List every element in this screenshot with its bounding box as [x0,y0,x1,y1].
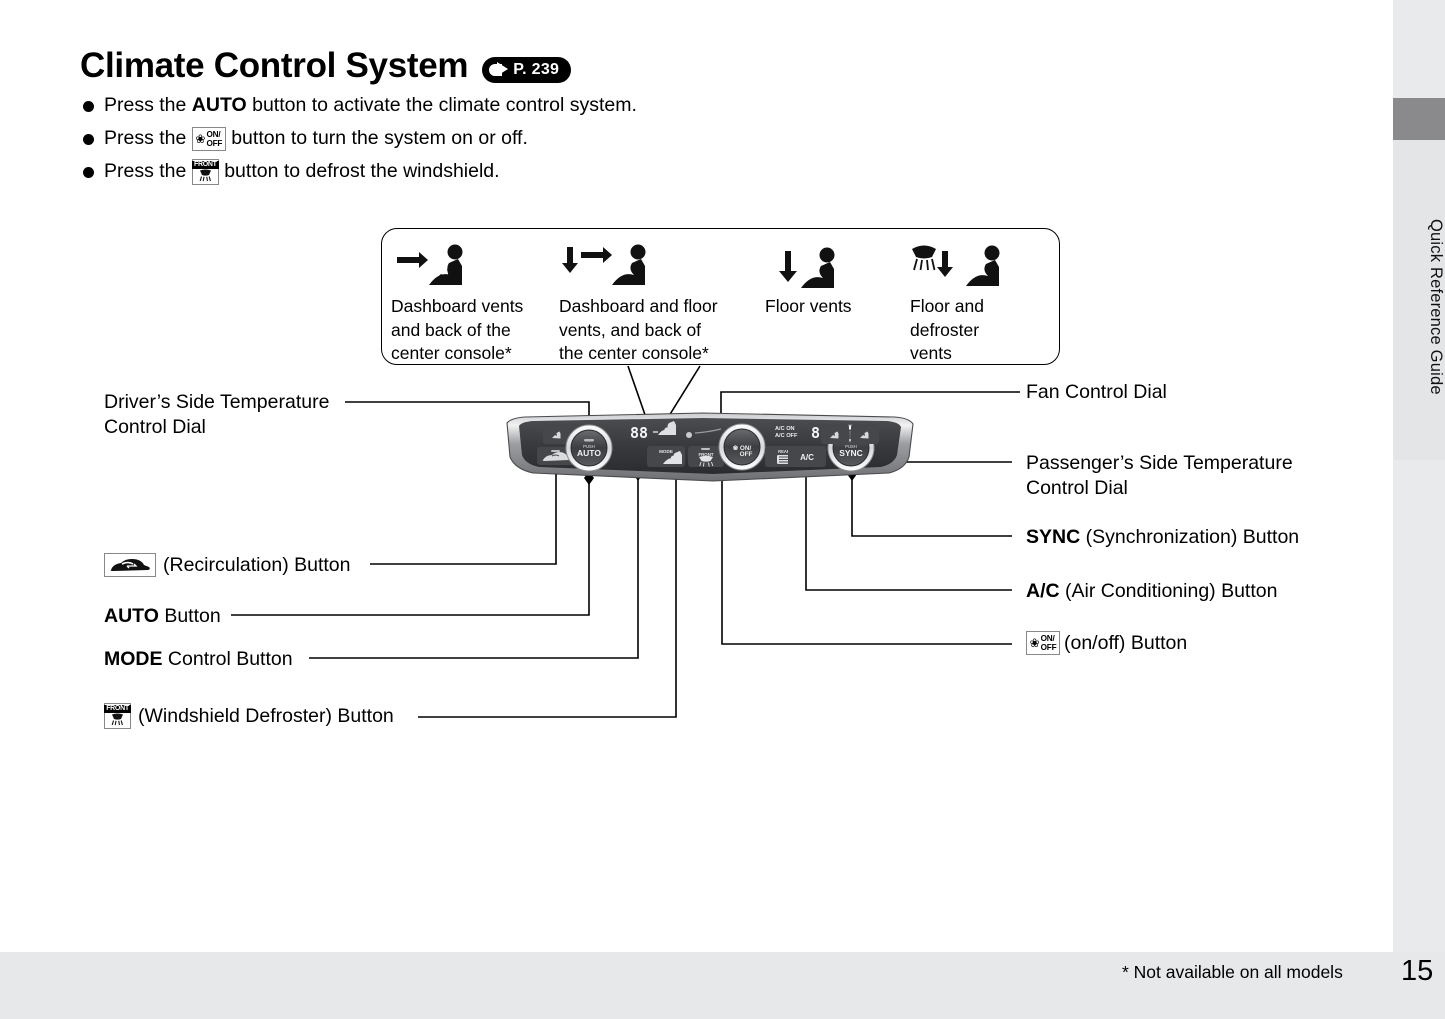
label-auto-button: AUTO Button [104,604,221,628]
svg-text:SYNC: SYNC [839,448,863,458]
label-windshield-defroster-button: FRONT (Windshield Defroster) Button [104,703,394,729]
label-text: Fan Control Dial [1026,381,1167,403]
label-recirculation-button: (Recirculation) Button [104,553,351,577]
svg-text:A/C ON: A/C ON [775,426,795,432]
label-passengers-side-temperature-control-dial: Passenger’s Side Temperature Control Dia… [1026,451,1293,500]
footnote: * Not available on all models [1122,962,1343,983]
svg-text:A/C OFF: A/C OFF [775,433,798,439]
label-text: (on/off) Button [1064,631,1187,655]
label-text: Control Button [163,648,293,670]
label-text: (Air Conditioning) Button [1060,580,1278,602]
label-fan-control-dial: Fan Control Dial [1026,380,1167,404]
label-bold: A/C [1026,580,1060,602]
side-tab-label: Quick Reference Guide [1393,140,1445,460]
label-drivers-side-temperature-control-dial: Driver’s Side Temperature Control Dial [104,390,329,439]
front-defroster-icon: FRONT [104,703,131,729]
svg-text:A/C: A/C [800,453,814,462]
label-line: Passenger’s Side Temperature [1026,451,1293,476]
side-tab-marker [1393,98,1445,140]
svg-text:88: 88 [630,424,648,442]
fan-onoff-dial: ❀ ON/ OFF [719,424,765,470]
ac-status-indicator: A/C ON A/C OFF [775,426,798,439]
label-ac-button: A/C (Air Conditioning) Button [1026,579,1277,603]
mode-button: MODE [647,446,685,467]
label-text: (Windshield Defroster) Button [138,704,394,728]
fan-onoff-icon: ❀ ON/OFF [1026,631,1060,655]
label-line: Control Dial [104,415,329,440]
label-line: Control Dial [1026,476,1293,501]
label-text: Button [159,605,221,627]
label-line: Driver’s Side Temperature [104,390,329,415]
label-fan-onoff-button: ❀ ON/OFF (on/off) Button [1026,631,1187,655]
driver-temperature-display: 88 [630,424,648,442]
label-bold: AUTO [104,605,159,627]
svg-text:MODE: MODE [659,449,673,454]
climate-control-panel-illustration: PUSH AUTO 88 MODE FRONT [503,411,917,483]
ac-button: A/C [788,446,826,467]
page-number: 15 [1401,955,1433,988]
label-mode-control-button: MODE Control Button [104,647,293,671]
label-text: (Recirculation) Button [163,553,351,577]
label-bold: SYNC [1026,526,1080,548]
svg-text:OFF: OFF [740,451,753,458]
label-text: (Synchronization) Button [1080,526,1299,548]
auto-dial: PUSH AUTO [566,425,612,471]
svg-text:AUTO: AUTO [577,448,601,458]
recirculation-icon [104,553,156,577]
label-bold: MODE [104,648,163,670]
label-sync-button: SYNC (Synchronization) Button [1026,525,1299,549]
